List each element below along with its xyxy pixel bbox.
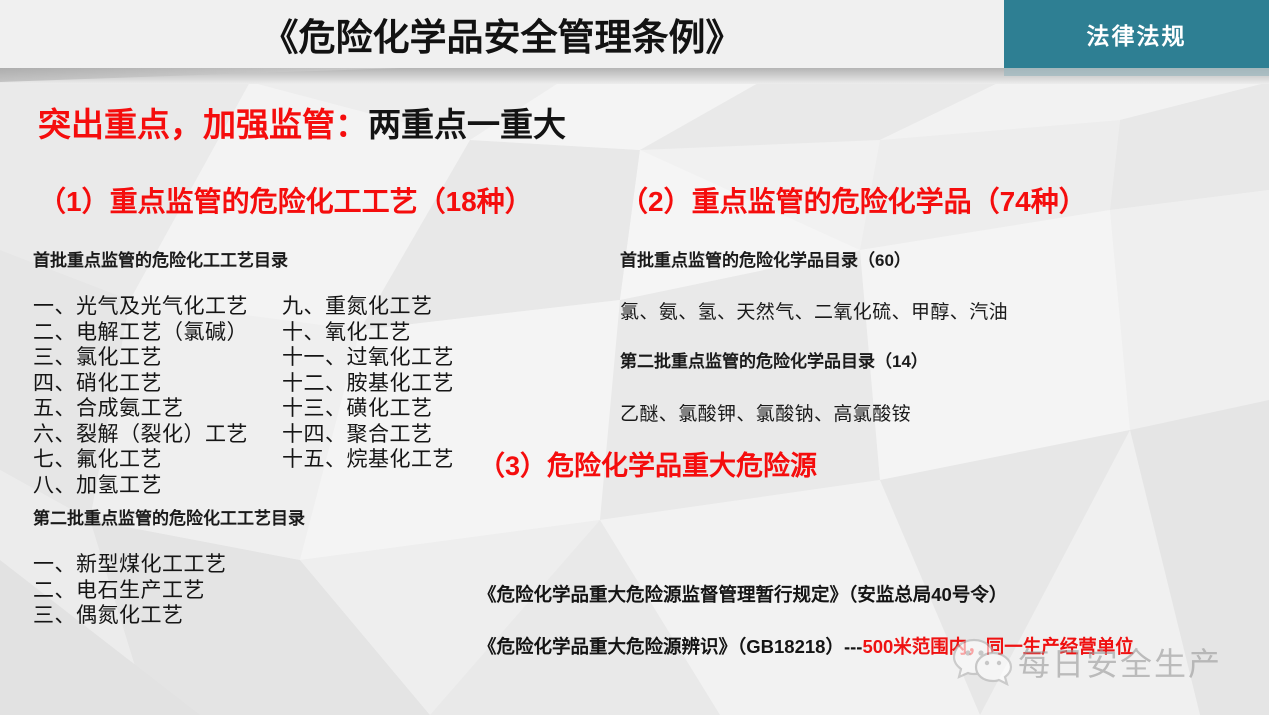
list-item: 五、合成氨工艺 bbox=[33, 396, 248, 422]
category-badge: 法律法规 bbox=[1004, 0, 1269, 68]
regulation-reference-1: 《危险化学品重大危险源监督管理暂行规定》（安监总局40号令） bbox=[478, 581, 1007, 607]
process-list-column-c: 一、新型煤化工工艺 二、电石生产工艺 三、偶氮化工艺 bbox=[33, 552, 227, 629]
slide-header: 《危险化学品安全管理条例》 法律法规 bbox=[0, 0, 1269, 68]
list-item: 三、偶氮化工艺 bbox=[33, 603, 227, 629]
process-list-column-a: 一、光气及光气化工艺 二、电解工艺（氯碱） 三、氯化工艺 四、硝化工艺 五、合成… bbox=[33, 294, 248, 498]
section-2-heading: （2）重点监管的危险化学品（74种） bbox=[620, 180, 1087, 220]
list-item: 二、电石生产工艺 bbox=[33, 578, 227, 604]
list-item: 十一、过氧化工艺 bbox=[282, 345, 454, 371]
list-item: 八、加氢工艺 bbox=[33, 473, 248, 499]
list-item: 四、硝化工艺 bbox=[33, 371, 248, 397]
list-item: 十二、胺基化工艺 bbox=[282, 371, 454, 397]
right-subtitle-second-batch: 第二批重点监管的危险化学品目录（14） bbox=[620, 347, 928, 372]
list-item: 三、氯化工艺 bbox=[33, 345, 248, 371]
main-heading: 突出重点，加强监管：两重点一重大 bbox=[38, 98, 566, 146]
list-item: 二、电解工艺（氯碱） bbox=[33, 320, 248, 346]
list-item: 十、氧化工艺 bbox=[282, 320, 454, 346]
right-subtitle-first-batch: 首批重点监管的危险化学品目录（60） bbox=[620, 246, 911, 271]
regulation-reference-2: 《危险化学品重大危险源辨识》（GB18218）---500米范围内，同一生产经营… bbox=[478, 633, 1134, 659]
chemicals-list-first-batch: 氯、氨、氢、天然气、二氧化硫、甲醇、汽油 bbox=[620, 297, 1008, 324]
slide-content: 突出重点，加强监管：两重点一重大 （1）重点监管的危险化工工艺（18种） （2）… bbox=[0, 0, 1269, 715]
main-heading-black: 两重点一重大 bbox=[368, 106, 566, 143]
chemicals-list-second-batch: 乙醚、氯酸钾、氯酸钠、高氯酸铵 bbox=[620, 399, 911, 426]
page-title: 《危险化学品安全管理条例》 bbox=[0, 0, 1004, 68]
section-3-heading: （3）危险化学品重大危险源 bbox=[478, 444, 817, 483]
regulation-2-title: 《危险化学品重大危险源辨识》（GB18218）--- bbox=[478, 636, 862, 657]
header-shadow-divider bbox=[0, 68, 1269, 84]
list-item: 七、氟化工艺 bbox=[33, 447, 248, 473]
process-list-column-b: 九、重氮化工艺 十、氧化工艺 十一、过氧化工艺 十二、胺基化工艺 十三、磺化工艺… bbox=[282, 294, 454, 473]
list-item: 十四、聚合工艺 bbox=[282, 422, 454, 448]
list-item: 一、光气及光气化工艺 bbox=[33, 294, 248, 320]
list-item: 十三、磺化工艺 bbox=[282, 396, 454, 422]
list-item: 六、裂解（裂化）工艺 bbox=[33, 422, 248, 448]
regulation-2-note: 500米范围内，同一生产经营单位 bbox=[862, 636, 1133, 657]
left-subtitle-second-batch: 第二批重点监管的危险化工工艺目录 bbox=[33, 504, 305, 529]
left-subtitle-first-batch: 首批重点监管的危险化工工艺目录 bbox=[33, 246, 288, 271]
list-item: 九、重氮化工艺 bbox=[282, 294, 454, 320]
list-item: 一、新型煤化工工艺 bbox=[33, 552, 227, 578]
main-heading-red: 突出重点，加强监管： bbox=[38, 106, 368, 143]
list-item: 十五、烷基化工艺 bbox=[282, 447, 454, 473]
section-1-heading: （1）重点监管的危险化工工艺（18种） bbox=[38, 180, 533, 220]
slide-canvas: 《危险化学品安全管理条例》 法律法规 突出重点，加强监管：两重点一重大 （1）重… bbox=[0, 0, 1269, 715]
